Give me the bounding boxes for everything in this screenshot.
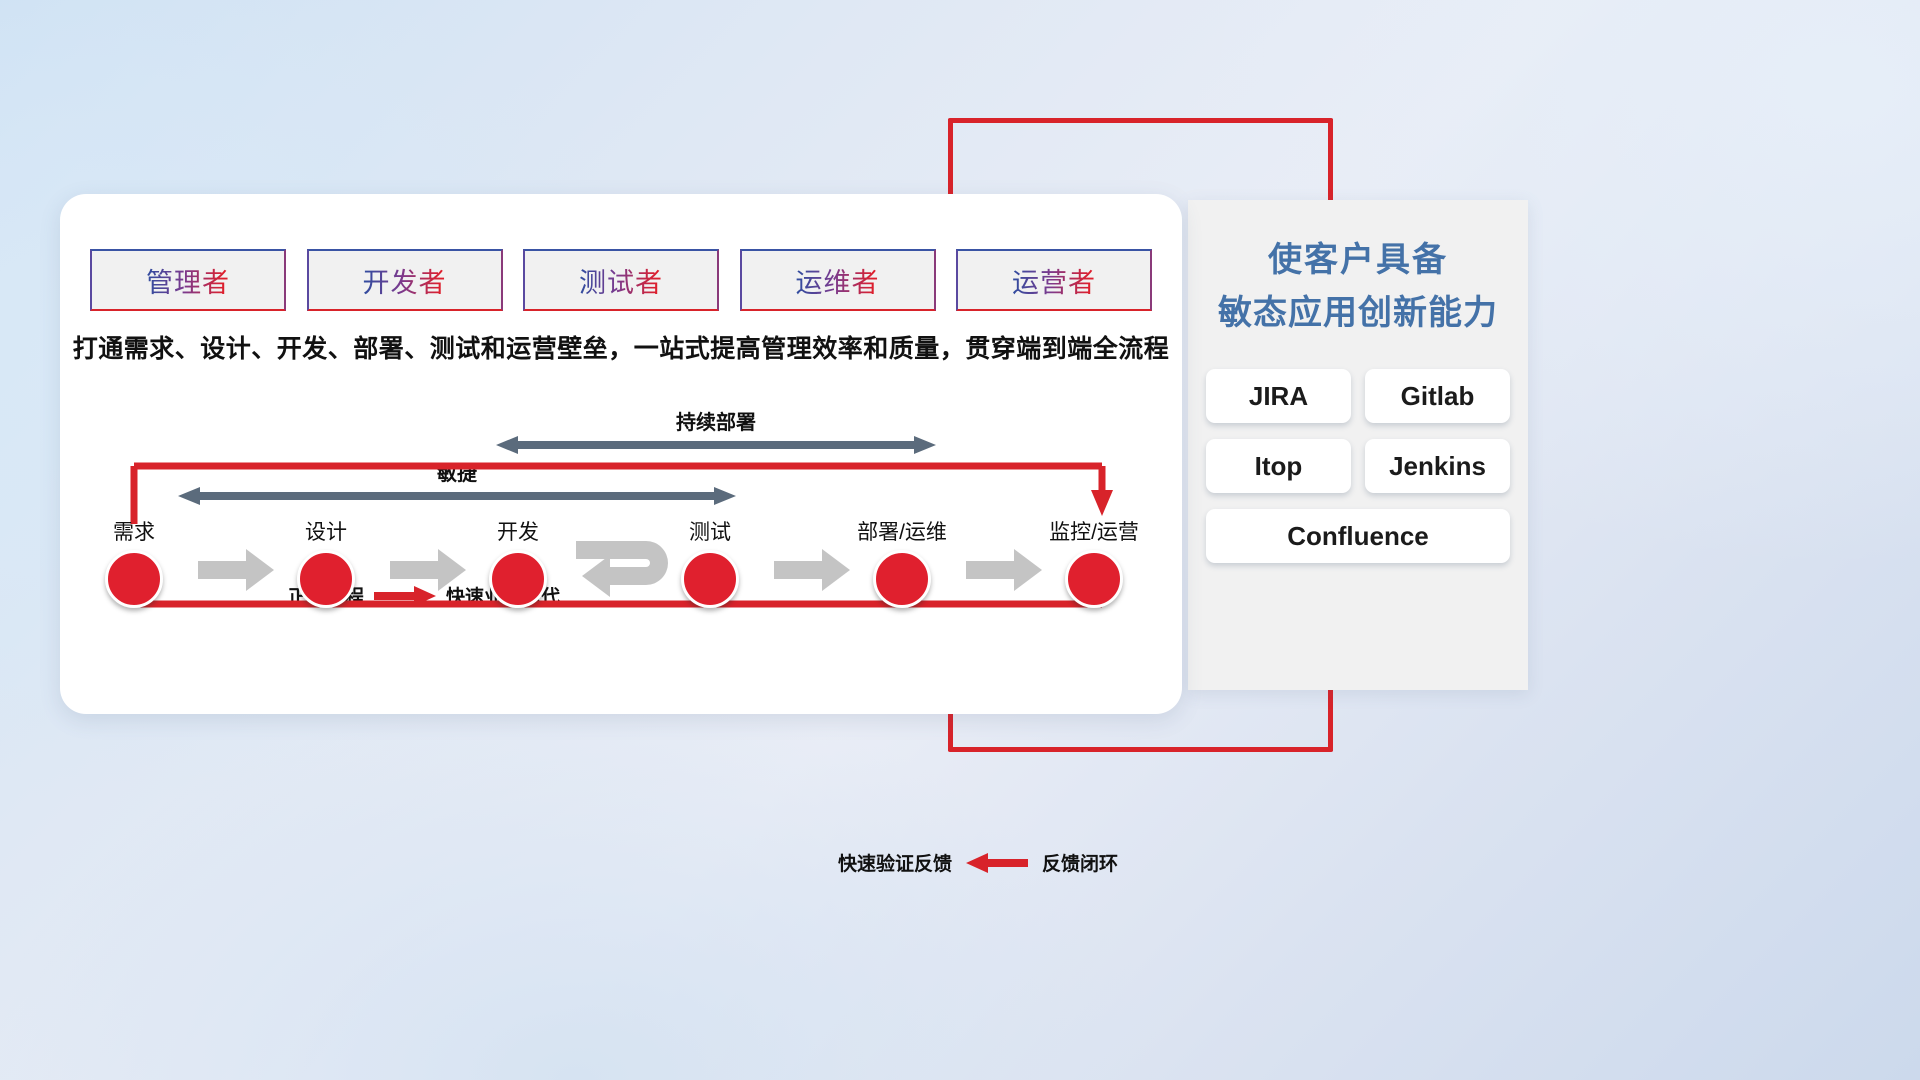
stage-dot [873,550,931,608]
pipeline-stage-monitor-operations[interactable]: 监控/运营 [1034,516,1154,608]
pipeline-stage-deploy-ops[interactable]: 部署/运维 [842,516,962,608]
red-pipeline-loop [60,194,1182,714]
arrow-left-icon [966,853,1028,873]
tool-chip-jenkins[interactable]: Jenkins [1365,439,1510,493]
stage-dot [297,550,355,608]
pipeline-stage-requirements[interactable]: 需求 [74,516,194,608]
stage-label: 监控/运营 [1034,516,1154,546]
legend-feedback-left-label: 快速验证反馈 [838,849,952,876]
tools-grid: JIRA Gitlab Itop Jenkins Confluence [1206,369,1510,563]
connector-loop-back-arrow-development-testing [576,537,676,603]
tool-chip-jira[interactable]: JIRA [1206,369,1351,423]
legend-feedback-right-label: 反馈闭环 [1042,849,1118,876]
stage-label: 需求 [74,516,194,546]
stage-dot [1065,550,1123,608]
stage-dot [105,550,163,608]
stage-label: 部署/运维 [842,516,962,546]
stage-label: 开发 [458,516,578,546]
tool-chip-gitlab[interactable]: Gitlab [1365,369,1510,423]
pipeline-stage-development[interactable]: 开发 [458,516,578,608]
value-panel: 使客户具备 敏态应用创新能力 JIRA Gitlab Itop Jenkins … [1188,200,1528,690]
connector-arrow-deploy-monitor [966,549,1042,591]
tool-chip-confluence[interactable]: Confluence [1206,509,1510,563]
connector-arrow-testing-deploy [774,549,850,591]
panel-title-line2: 敏态应用创新能力 [1188,287,1528,340]
stage-dot [681,550,739,608]
pipeline-stage-design[interactable]: 设计 [266,516,386,608]
main-card: 管理者 开发者 测试者 运维者 运营者 打通需求、设计、开发、部署、测试和运营壁… [60,194,1182,714]
connector-arrow-requirements-design [198,549,274,591]
stage-dot [489,550,547,608]
tool-chip-itop[interactable]: Itop [1206,439,1351,493]
slide-canvas: 使客户具备 敏态应用创新能力 JIRA Gitlab Itop Jenkins … [0,0,1920,1080]
stage-label: 设计 [266,516,386,546]
connector-arrow-design-development [390,549,466,591]
legend-feedback-loop: 快速验证反馈 反馈闭环 [838,849,1118,876]
panel-title-line1: 使客户具备 [1188,234,1528,287]
panel-title: 使客户具备 敏态应用创新能力 [1188,200,1528,339]
